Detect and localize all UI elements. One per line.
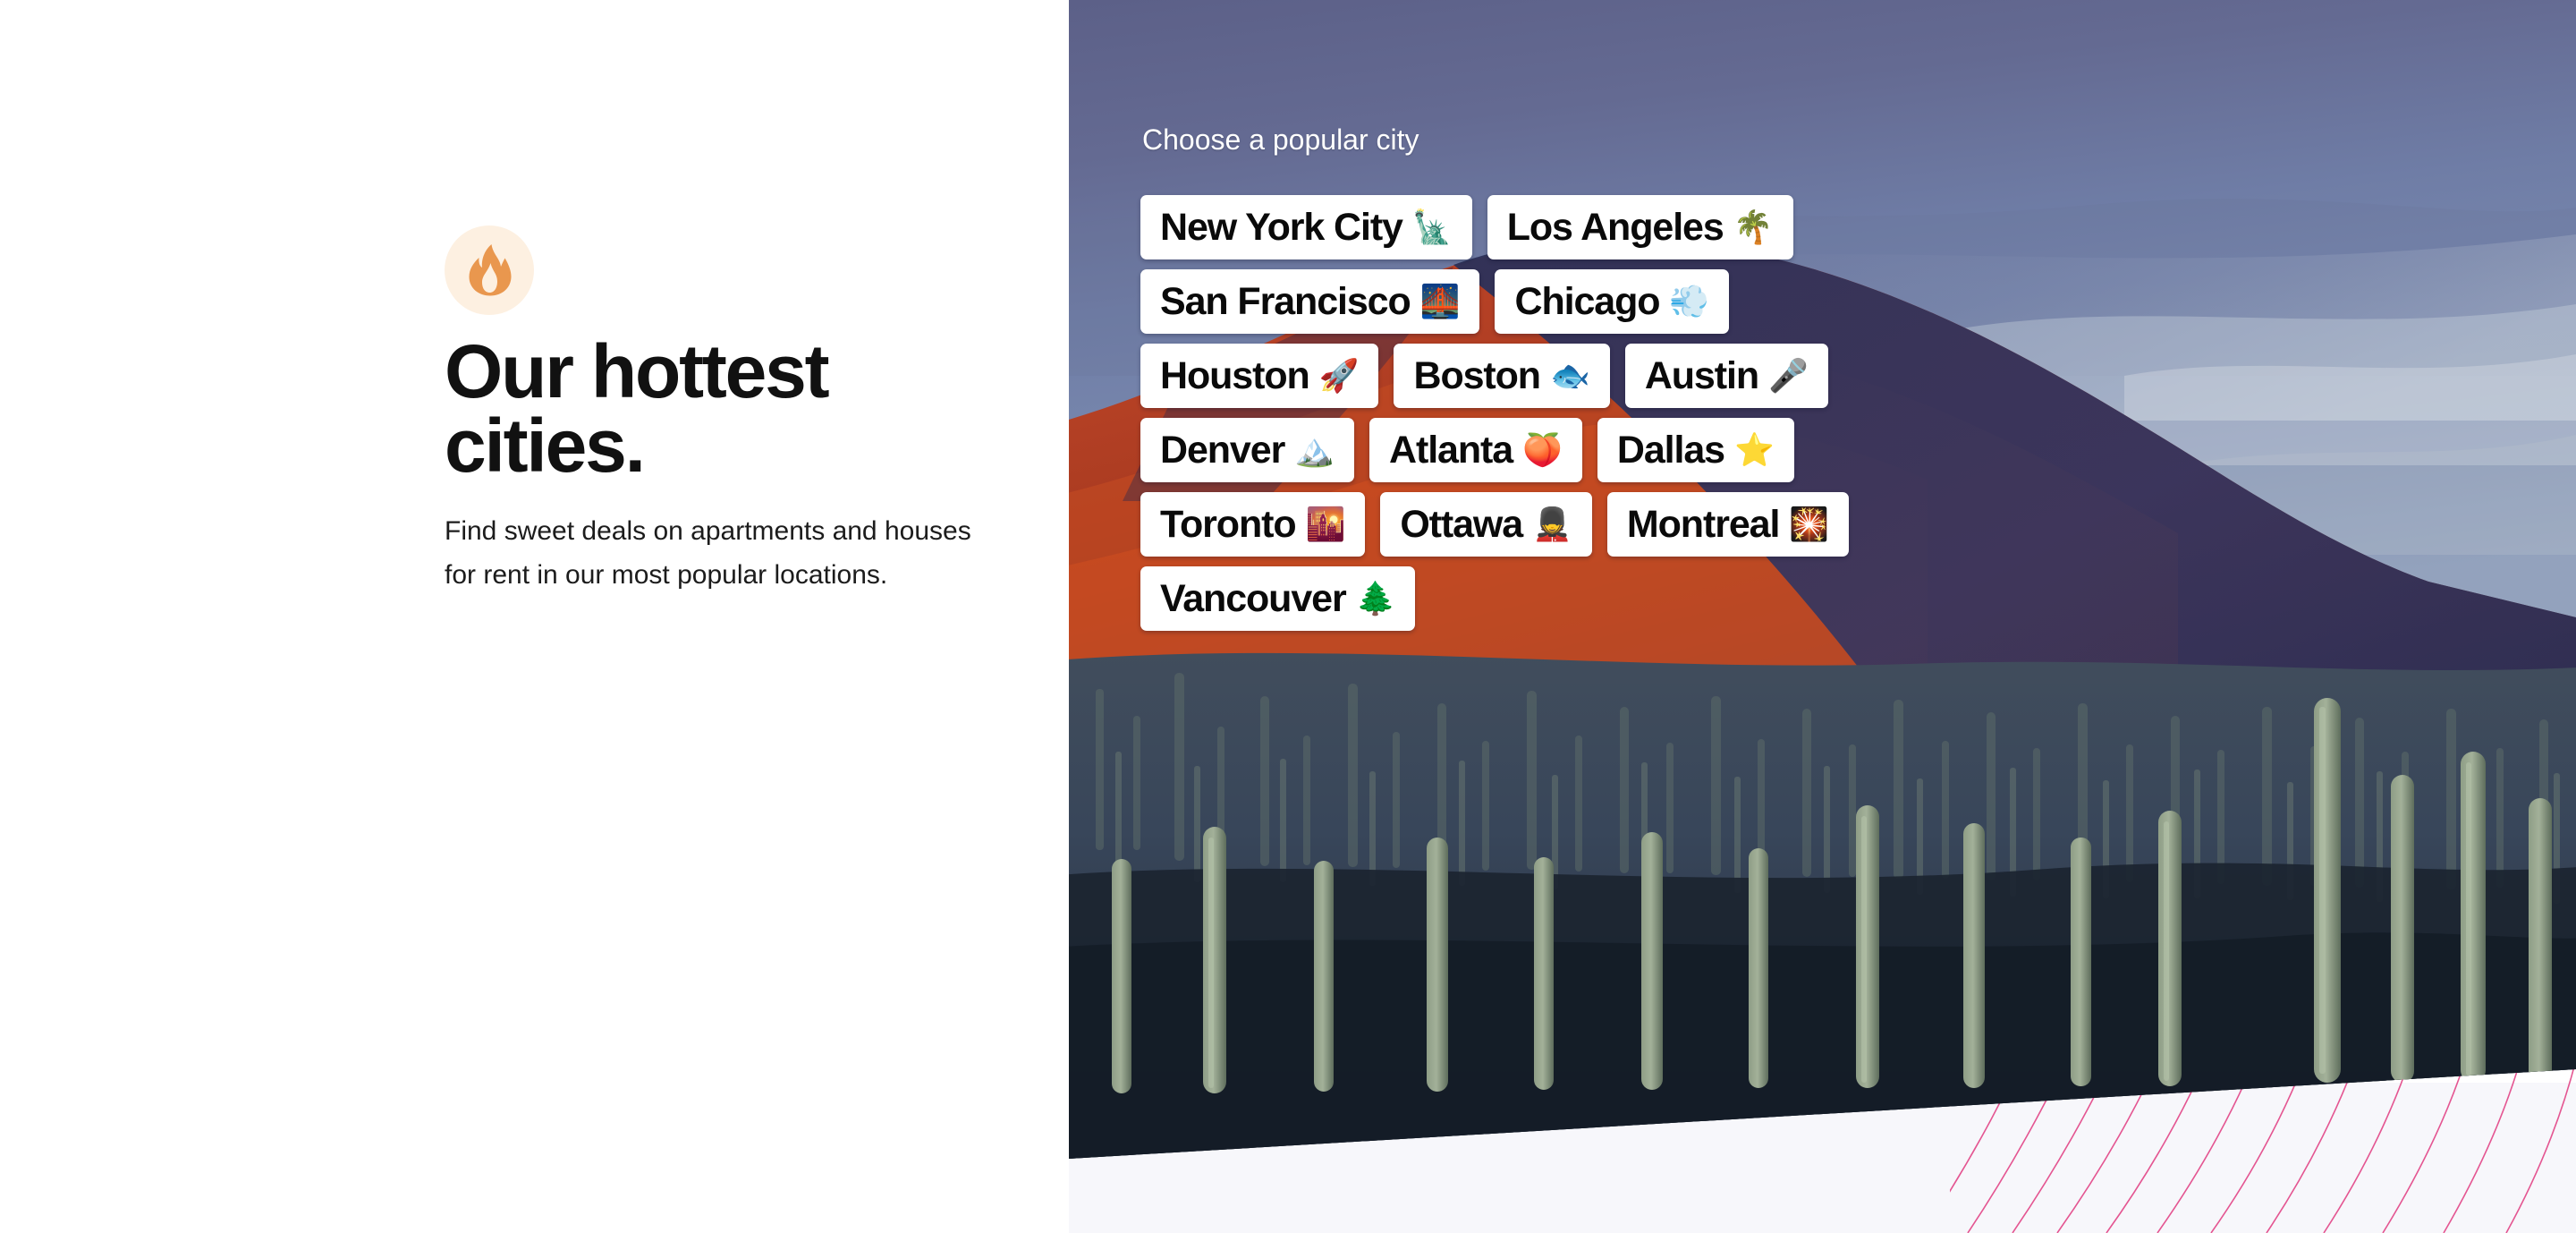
guard-icon: 💂 bbox=[1532, 508, 1572, 540]
city-chip-san-francisco[interactable]: San Francisco🌉 bbox=[1140, 269, 1479, 334]
city-chip-label: Austin bbox=[1645, 357, 1758, 395]
city-chip-houston[interactable]: Houston🚀 bbox=[1140, 344, 1378, 408]
city-chip-label: Toronto bbox=[1160, 506, 1296, 544]
flame-icon bbox=[464, 243, 514, 297]
page-title: Our hottest cities. bbox=[445, 335, 865, 483]
city-chip-row: Toronto🌇Ottawa💂Montreal🎇 bbox=[1140, 492, 2536, 557]
city-chip-new-york-city[interactable]: New York City🗽 bbox=[1140, 195, 1472, 259]
city-chip-toronto[interactable]: Toronto🌇 bbox=[1140, 492, 1365, 557]
city-chip-row: Denver🏔️Atlanta🍑Dallas⭐ bbox=[1140, 418, 2536, 482]
city-chip-dallas[interactable]: Dallas⭐ bbox=[1597, 418, 1794, 482]
city-chip-label: Los Angeles bbox=[1507, 208, 1724, 247]
sparkler-icon: 🎇 bbox=[1789, 508, 1829, 540]
dashing-away-icon: 💨 bbox=[1669, 285, 1709, 318]
city-chip-row: Houston🚀Boston🐟Austin🎤 bbox=[1140, 344, 2536, 408]
statue-of-liberty-icon: 🗽 bbox=[1412, 211, 1453, 243]
city-chip-label: San Francisco bbox=[1160, 283, 1411, 321]
city-chip-label: Vancouver bbox=[1160, 580, 1346, 618]
rocket-icon: 🚀 bbox=[1319, 360, 1360, 392]
city-chip-label: Boston bbox=[1413, 357, 1540, 395]
star-icon: ⭐ bbox=[1734, 434, 1775, 466]
city-chip-label: Houston bbox=[1160, 357, 1309, 395]
city-chip-label: Chicago bbox=[1514, 283, 1659, 321]
sunset-over-buildings-icon: 🌇 bbox=[1306, 508, 1346, 540]
peach-icon: 🍑 bbox=[1522, 434, 1563, 466]
city-chip-list: New York City🗽Los Angeles🌴San Francisco🌉… bbox=[1140, 195, 2536, 631]
flame-badge bbox=[445, 225, 534, 315]
city-chip-label: Dallas bbox=[1617, 431, 1724, 470]
fish-icon: 🐟 bbox=[1550, 360, 1590, 392]
page-root: Our hottest cities. Find sweet deals on … bbox=[0, 0, 2576, 1233]
left-column: Our hottest cities. Find sweet deals on … bbox=[0, 0, 1069, 1233]
hero-copy-block: Our hottest cities. Find sweet deals on … bbox=[445, 225, 981, 598]
city-chip-denver[interactable]: Denver🏔️ bbox=[1140, 418, 1354, 482]
city-chip-label: Montreal bbox=[1627, 506, 1779, 544]
palm-tree-icon: 🌴 bbox=[1733, 211, 1774, 243]
microphone-icon: 🎤 bbox=[1768, 360, 1809, 392]
city-chip-montreal[interactable]: Montreal🎇 bbox=[1607, 492, 1849, 557]
page-subtitle: Find sweet deals on apartments and house… bbox=[445, 510, 981, 597]
snow-capped-mountain-icon: 🏔️ bbox=[1294, 434, 1335, 466]
city-chip-label: New York City bbox=[1160, 208, 1402, 247]
city-chip-boston[interactable]: Boston🐟 bbox=[1394, 344, 1609, 408]
city-chip-ottawa[interactable]: Ottawa💂 bbox=[1380, 492, 1592, 557]
bridge-at-night-icon: 🌉 bbox=[1420, 285, 1461, 318]
city-chip-atlanta[interactable]: Atlanta🍑 bbox=[1369, 418, 1582, 482]
city-chip-los-angeles[interactable]: Los Angeles🌴 bbox=[1487, 195, 1793, 259]
city-chip-label: Ottawa bbox=[1400, 506, 1522, 544]
city-chip-austin[interactable]: Austin🎤 bbox=[1625, 344, 1828, 408]
city-chip-row: San Francisco🌉Chicago💨 bbox=[1140, 269, 2536, 334]
city-chip-row: New York City🗽Los Angeles🌴 bbox=[1140, 195, 2536, 259]
city-chip-label: Denver bbox=[1160, 431, 1284, 470]
evergreen-tree-icon: 🌲 bbox=[1356, 582, 1396, 615]
city-picker: Choose a popular city New York City🗽Los … bbox=[1140, 125, 2536, 641]
city-picker-heading: Choose a popular city bbox=[1142, 125, 2536, 154]
city-chip-row: Vancouver🌲 bbox=[1140, 566, 2536, 631]
city-chip-vancouver[interactable]: Vancouver🌲 bbox=[1140, 566, 1415, 631]
city-chip-chicago[interactable]: Chicago💨 bbox=[1495, 269, 1729, 334]
city-chip-label: Atlanta bbox=[1389, 431, 1513, 470]
